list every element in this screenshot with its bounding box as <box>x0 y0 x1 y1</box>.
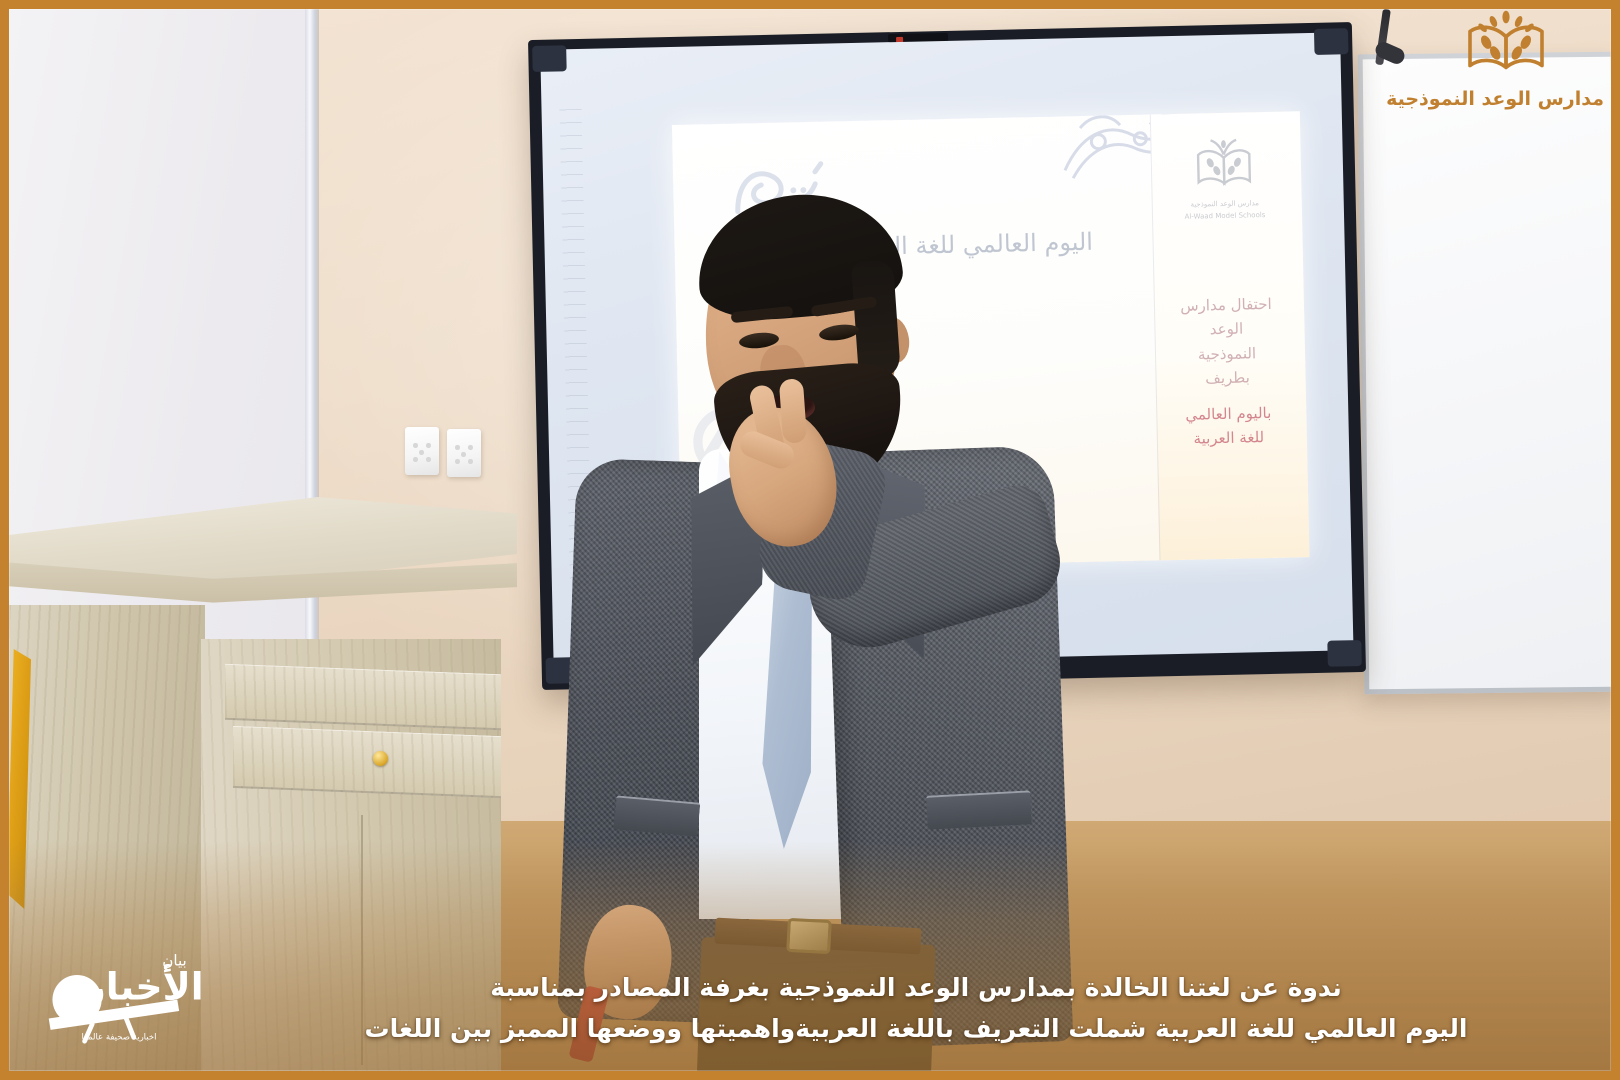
slide-logo-caption-ar: مدارس الوعد النموذجية <box>1172 199 1278 211</box>
school-brand-name: مدارس الوعد النموذجية <box>1408 88 1604 110</box>
photo-scene: مدارس الوعد النموذجية Al-Waad Model Scho… <box>9 9 1611 1071</box>
slide-body-text: احتفال مدارس الوعد النموذجية بطريف باليو… <box>1166 292 1289 452</box>
svg-text:اخبارية صحيفة عالمها: اخبارية صحيفة عالمها <box>81 1032 156 1042</box>
wall-socket <box>405 427 439 475</box>
plain-whiteboard <box>1358 52 1611 695</box>
sideburn <box>851 260 901 381</box>
cabinet-drawer <box>233 726 501 798</box>
caption-text: ندوة عن لغتنا الخالدة بمدارس الوعد النمو… <box>239 968 1593 1049</box>
plain-whiteboard-surface <box>1363 57 1611 690</box>
slide-logo-caption-en: Al-Waad Model Schools <box>1172 211 1278 223</box>
finger <box>779 378 807 444</box>
news-agency-watermark: بيان الأخبار اخبارية صحيفة عالمها <box>35 941 225 1049</box>
whiteboard-corner-bracket <box>532 45 567 72</box>
open-book-with-leaves-icon <box>1183 136 1264 194</box>
caption-line-2: اليوم العالمي للغة العربية شملت التعريف … <box>239 1009 1593 1050</box>
jacket-pocket <box>926 790 1032 829</box>
screenshot-root: مدارس الوعد النموذجية Al-Waad Model Scho… <box>0 0 1620 1080</box>
wall-socket <box>447 429 481 477</box>
slide-highlight-line: باليوم العالمي <box>1168 401 1289 428</box>
belt-buckle <box>786 918 832 954</box>
open-book-with-leaves-icon <box>1452 6 1560 82</box>
whiteboard-corner-bracket <box>1327 640 1362 667</box>
caption-line-1: ندوة عن لغتنا الخالدة بمدارس الوعد النمو… <box>490 973 1342 1002</box>
slide-right-band: مدارس الوعد النموذجية Al-Waad Model Scho… <box>1150 111 1310 560</box>
slide-body-line: بطريف <box>1167 364 1288 391</box>
slide-highlight-line: للغة العربية <box>1169 425 1290 452</box>
slide-school-logo: مدارس الوعد النموذجية Al-Waad Model Scho… <box>1170 136 1278 223</box>
jacket-pocket <box>614 795 701 836</box>
slide-body-line: الوعد <box>1166 316 1287 343</box>
drawer-knob <box>373 751 388 766</box>
whiteboard-corner-bracket <box>1314 28 1349 55</box>
telescope-and-globe-icon: بيان الأخبار اخبارية صحيفة عالمها <box>35 941 225 1045</box>
presenter <box>549 199 1069 1071</box>
cabinet-drawer <box>225 664 501 731</box>
school-brand-logo: مدارس الوعد النموذجية <box>1408 6 1604 110</box>
slide-body-line: النموذجية <box>1167 340 1288 367</box>
slide-body-line: احتفال مدارس <box>1166 292 1287 319</box>
